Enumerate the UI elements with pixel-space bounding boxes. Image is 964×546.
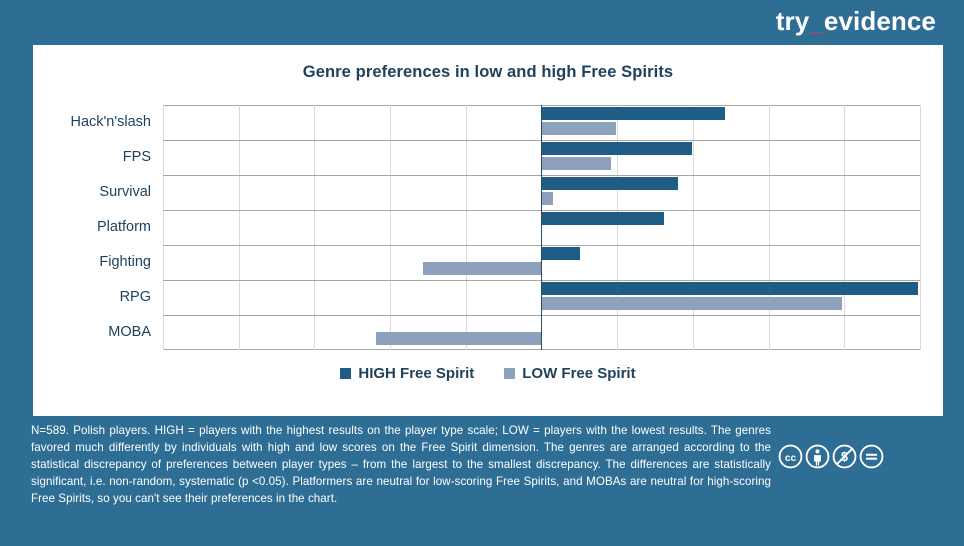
bar-low[interactable] (542, 122, 617, 135)
category-label-hacknslash: Hack'n'slash (31, 105, 151, 140)
logo-underscore: _ (809, 6, 824, 36)
category-label-fighting: Fighting (31, 245, 151, 280)
bar-high[interactable] (542, 247, 581, 260)
legend-item-low[interactable]: LOW Free Spirit (504, 365, 635, 382)
bar-high[interactable] (542, 142, 693, 155)
bar-low[interactable] (376, 332, 541, 345)
chart-title: Genre preferences in low and high Free S… (33, 63, 943, 82)
bar-high[interactable] (542, 107, 725, 120)
svg-text:cc: cc (785, 453, 797, 464)
footnote-text: N=589. Polish players. HIGH = players wi… (31, 422, 771, 507)
cc-icon[interactable]: cc (778, 444, 803, 469)
page-header: try_evidence (0, 0, 964, 45)
category-label-platform: Platform (31, 210, 151, 245)
category-label-fps: FPS (31, 140, 151, 175)
chart-card: Genre preferences in low and high Free S… (33, 45, 943, 416)
cc-nc-icon[interactable]: $ (832, 444, 857, 469)
category-label-moba: MOBA (31, 315, 151, 350)
legend-item-high[interactable]: HIGH Free Spirit (340, 365, 474, 382)
chart-legend: HIGH Free Spirit LOW Free Spirit (33, 365, 943, 382)
plot-area (163, 105, 920, 350)
brand-logo: try_evidence (776, 6, 936, 36)
logo-prefix: try (776, 6, 810, 36)
logo-suffix: evidence (824, 6, 936, 36)
slide-root: try_evidence Genre preferences in low an… (0, 0, 964, 546)
cc-nd-icon[interactable] (859, 444, 884, 469)
category-axis: Hack'n'slash FPS Survival Platform Fight… (33, 105, 151, 350)
category-label-survival: Survival (31, 175, 151, 210)
license-badges: cc $ (778, 444, 884, 469)
bar-high[interactable] (542, 177, 678, 190)
legend-swatch-low-icon (504, 368, 515, 379)
cc-by-icon[interactable] (805, 444, 830, 469)
bar-low[interactable] (542, 157, 612, 170)
bar-high[interactable] (542, 212, 665, 225)
legend-label-low: LOW Free Spirit (522, 365, 635, 382)
bar-high[interactable] (542, 282, 918, 295)
bar-low[interactable] (542, 297, 843, 310)
bar-low[interactable] (423, 262, 541, 275)
category-label-rpg: RPG (31, 280, 151, 315)
zero-axis-line (541, 105, 542, 350)
gridline-10 (920, 105, 921, 350)
legend-label-high: HIGH Free Spirit (358, 365, 474, 382)
bar-low[interactable] (542, 192, 553, 205)
legend-swatch-high-icon (340, 368, 351, 379)
